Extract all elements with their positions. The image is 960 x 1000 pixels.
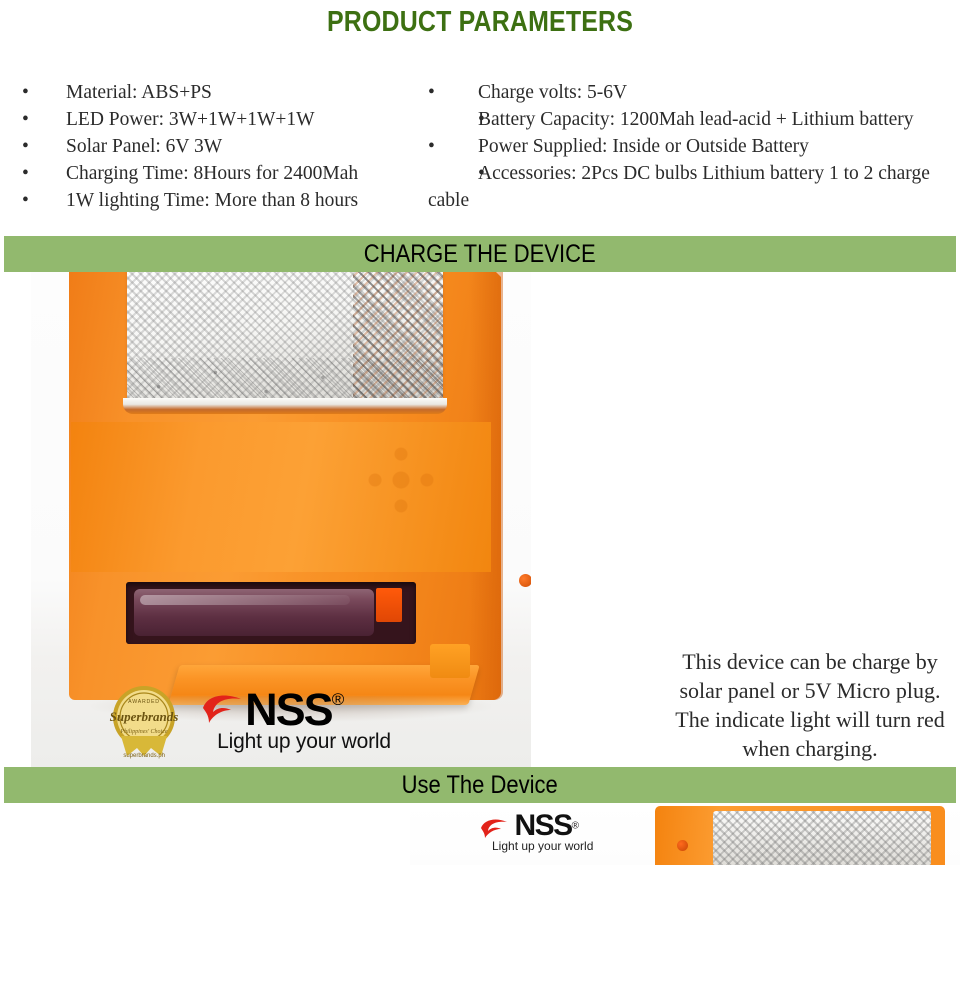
spec-list-right: • Charge volts: 5-6V • Battery Capacity:… xyxy=(420,79,960,214)
indicator-light xyxy=(519,574,531,587)
spec-text: Material: ABS+PS xyxy=(66,82,212,103)
bullet-icon: • xyxy=(22,160,29,187)
charge-the-device-section: NSS® NS-1573S12 20 This device can be ch… xyxy=(0,272,960,767)
bullet-icon: • xyxy=(22,133,29,160)
spec-item: • Accessories: 2Pcs DC bulbs Lithium bat… xyxy=(420,160,960,214)
section-banner-use-the-device: Use The Device xyxy=(4,767,956,803)
spec-column-left: • Material: ABS+PS • LED Power: 3W+1W+1W… xyxy=(0,79,420,214)
superbrands-seal-icon: AWARDED Superbrands Philippines' Choice … xyxy=(109,684,179,758)
lamp-product-cropped xyxy=(655,806,945,865)
use-the-device-section: NSS® Light up your world xyxy=(0,803,960,865)
spec-item: • Charging Time: 8Hours for 2400Mah xyxy=(8,160,420,187)
bullet-icon: • xyxy=(428,133,435,160)
svg-text:AWARDED: AWARDED xyxy=(128,699,160,705)
svg-text:Philippines' Choice: Philippines' Choice xyxy=(120,729,168,735)
spec-item: • Material: ABS+PS xyxy=(8,79,420,106)
banner-label: Use The Device xyxy=(402,767,558,803)
lamp-front-face xyxy=(71,422,491,572)
nss-logo-text: NSS xyxy=(514,809,571,842)
led-panel-rim xyxy=(123,398,447,414)
nss-swoosh-icon xyxy=(201,692,245,729)
spec-item: • Power Supplied: Inside or Outside Batt… xyxy=(420,133,960,160)
led-diffuser-panel xyxy=(713,811,931,865)
registered-mark-icon: ® xyxy=(572,821,579,832)
led-diffuser-panel xyxy=(127,272,443,406)
bullet-icon: • xyxy=(22,187,29,214)
battery-cover-tab xyxy=(430,644,470,678)
spec-item: • Solar Panel: 6V 3W xyxy=(8,133,420,160)
nss-logo-tagline: Light up your world xyxy=(217,730,391,754)
banner-label: CHARGE THE DEVICE xyxy=(364,236,596,272)
nss-swoosh-icon xyxy=(480,822,514,839)
spec-text: LED Power: 3W+1W+1W+1W xyxy=(66,109,315,130)
seal-footer-label: superbrands.ph xyxy=(109,753,179,759)
bullet-icon: • xyxy=(428,160,485,187)
brand-strip: AWARDED Superbrands Philippines' Choice … xyxy=(0,675,500,767)
svg-text:Superbrands: Superbrands xyxy=(110,709,179,724)
spec-text: Solar Panel: 6V 3W xyxy=(66,136,222,157)
product-parameters-section: • Material: ABS+PS • LED Power: 3W+1W+1W… xyxy=(0,39,960,214)
section-banner-charge-the-device: CHARGE THE DEVICE xyxy=(4,236,956,272)
lamp-bevel-corner xyxy=(476,272,502,278)
product-photo-in-use: NSS® Light up your world xyxy=(410,803,960,865)
registered-mark-icon: ® xyxy=(332,690,345,710)
bullet-icon: • xyxy=(428,79,435,106)
page-title: PRODUCT PARAMETERS xyxy=(67,0,893,39)
nss-brand-logo-overlay: NSS® Light up your world xyxy=(480,811,593,853)
nss-logo-text: NSS xyxy=(245,688,332,732)
charge-description-text: This device can be charge by solar panel… xyxy=(672,647,948,763)
decorative-emboss-icon xyxy=(365,444,437,516)
spec-column-right: • Charge volts: 5-6V • Battery Capacity:… xyxy=(420,79,960,214)
lithium-battery-cell xyxy=(134,589,374,636)
battery-clip xyxy=(376,588,402,622)
bullet-icon: • xyxy=(428,106,485,133)
bullet-icon: • xyxy=(22,79,29,106)
spec-text: Power Supplied: Inside or Outside Batter… xyxy=(478,136,809,157)
spec-text: Charging Time: 8Hours for 2400Mah xyxy=(66,163,358,184)
nss-logo-row: NSS® xyxy=(480,811,593,840)
spec-text: Charge volts: 5-6V xyxy=(478,82,627,103)
nss-logo-tagline: Light up your world xyxy=(492,839,593,853)
nss-logo-row: NSS ® xyxy=(201,688,344,732)
spec-text: 1W lighting Time: More than 8 hours xyxy=(66,190,358,211)
spec-item: • Battery Capacity: 1200Mah lead-acid + … xyxy=(420,106,960,133)
spec-list-left: • Material: ABS+PS • LED Power: 3W+1W+1W… xyxy=(8,79,420,214)
spec-text: Battery Capacity: 1200Mah lead-acid + Li… xyxy=(478,109,914,130)
nss-brand-logo: NSS ® Light up your world xyxy=(201,688,391,754)
battery-compartment xyxy=(126,582,416,644)
spec-item: • Charge volts: 5-6V xyxy=(420,79,960,106)
spec-item: • LED Power: 3W+1W+1W+1W xyxy=(8,106,420,133)
bullet-icon: • xyxy=(22,106,29,133)
spec-item: • 1W lighting Time: More than 8 hours xyxy=(8,187,420,214)
spec-text: Accessories: 2Pcs DC bulbs Lithium batte… xyxy=(428,163,930,211)
